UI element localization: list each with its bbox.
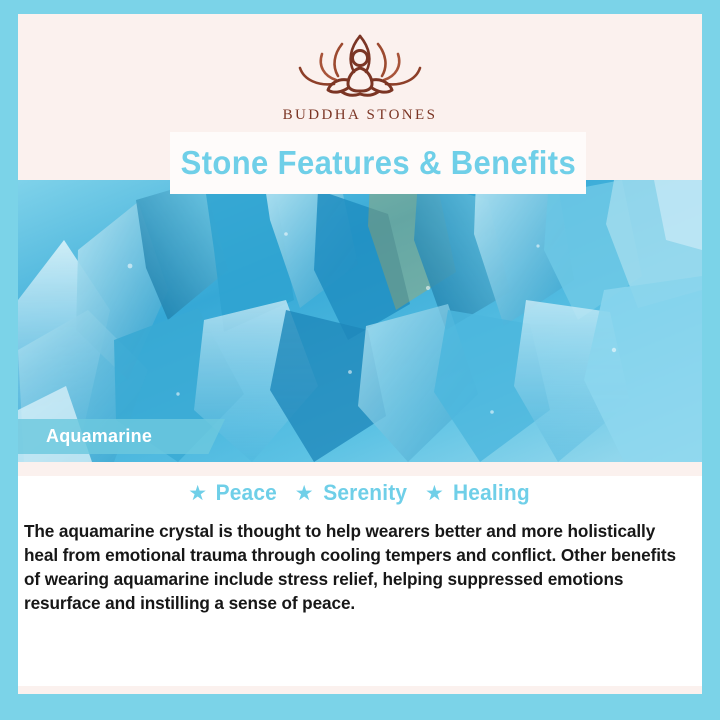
star-icon: ★ (188, 483, 207, 504)
page-surface: BUDDHA STONES Stone Features & Benefits (18, 14, 702, 694)
stone-name-banner: Aquamarine (18, 419, 225, 454)
right-accent-chevron (702, 440, 720, 540)
benefit-item: ★ Healing (425, 480, 532, 506)
crystal-photo: Aquamarine (18, 180, 702, 462)
benefit-label: Serenity (323, 480, 407, 506)
star-icon: ★ (295, 483, 314, 504)
stone-name: Aquamarine (46, 426, 152, 447)
description-paragraph: The aquamarine crystal is thought to hel… (24, 519, 688, 615)
star-icon: ★ (425, 483, 444, 504)
benefit-item: ★ Serenity (295, 480, 409, 506)
benefit-label: Healing (453, 480, 530, 506)
content-section: ★ Peace ★ Serenity ★ Healing The aquamar… (18, 462, 702, 694)
outer-teal-frame: BUDDHA STONES Stone Features & Benefits (0, 0, 720, 720)
content-top-strip (18, 462, 702, 476)
benefit-item: ★ Peace (188, 480, 278, 506)
brand-name: BUDDHA STONES (283, 107, 438, 124)
benefits-row: ★ Peace ★ Serenity ★ Healing (18, 480, 702, 506)
page-title-band: Stone Features & Benefits (170, 132, 586, 194)
content-bottom-strip (18, 686, 702, 694)
lotus-meditation-icon (270, 28, 450, 102)
page-title: Stone Features & Benefits (180, 144, 576, 182)
benefit-label: Peace (216, 480, 277, 506)
